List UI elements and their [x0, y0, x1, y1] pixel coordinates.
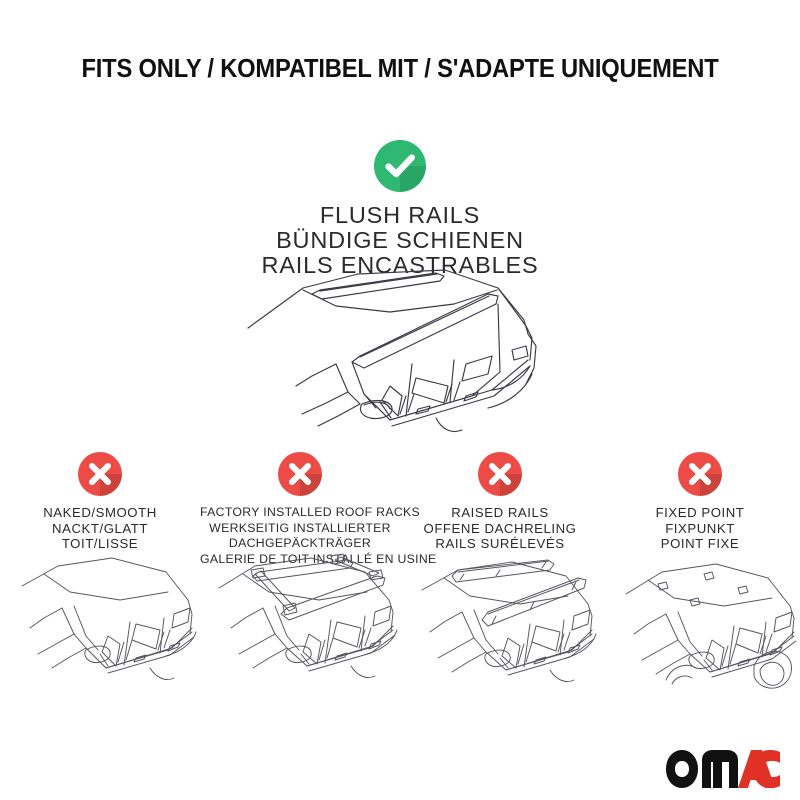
- fixed-point-line-de: FIXPUNKT: [600, 521, 800, 537]
- factory-roof-racks-line-en: FACTORY INSTALLED ROOF RACKS: [200, 505, 400, 521]
- x-circle-icon: [78, 452, 122, 496]
- omac-letter-o: [666, 750, 698, 788]
- incompatible-item-fixed-point: FIXED POINT FIXPUNKT POINT FIXE: [600, 452, 800, 567]
- compatible-section: FLUSH RAILS BÜNDIGE SCHIENEN RAILS ENCAS…: [0, 140, 800, 278]
- fixed-point-label: FIXED POINT FIXPUNKT POINT FIXE: [600, 505, 800, 552]
- raised-rails-line-de: OFFENE DACHRELING: [400, 521, 600, 537]
- suv-fixed-point-illustration: [608, 554, 798, 699]
- suv-factory-crossbars-illustration: [195, 548, 407, 693]
- x-circle-icon: [678, 452, 722, 496]
- flush-rails-label: FLUSH RAILS BÜNDIGE SCHIENEN RAILS ENCAS…: [0, 203, 800, 278]
- raised-rails-line-en: RAISED RAILS: [400, 505, 600, 521]
- page-title: FITS ONLY / KOMPATIBEL MIT / S'ADAPTE UN…: [28, 55, 772, 84]
- flush-rails-line-en: FLUSH RAILS: [0, 203, 800, 228]
- raised-rails-line-fr: RAILS SURÉLEVÉS: [400, 536, 600, 552]
- raised-rails-label: RAISED RAILS OFFENE DACHRELING RAILS SUR…: [400, 505, 600, 552]
- incompatible-item-factory-roof-racks: FACTORY INSTALLED ROOF RACKS WERKSEITIG …: [200, 452, 400, 567]
- x-circle-icon: [278, 452, 322, 496]
- incompatible-item-raised-rails: RAISED RAILS OFFENE DACHRELING RAILS SUR…: [400, 452, 600, 567]
- check-circle-icon: [374, 140, 426, 192]
- naked-smooth-line-fr: TOIT/LISSE: [0, 536, 200, 552]
- naked-smooth-label: NAKED/SMOOTH NACKT/GLATT TOIT/LISSE: [0, 505, 200, 552]
- incompatible-item-naked-smooth: NAKED/SMOOTH NACKT/GLATT TOIT/LISSE: [0, 452, 200, 567]
- x-circle-icon: [478, 452, 522, 496]
- fixed-point-line-fr: POINT FIXE: [600, 536, 800, 552]
- suv-raised-rails-illustration: [400, 552, 600, 697]
- suv-naked-roof-illustration: [0, 552, 200, 697]
- suv-flush-rails-illustration: [240, 268, 560, 443]
- fixed-point-line-en: FIXED POINT: [600, 505, 800, 521]
- omac-letter-m: [702, 750, 738, 788]
- naked-smooth-line-de: NACKT/GLATT: [0, 521, 200, 537]
- flush-rails-line-de: BÜNDIGE SCHIENEN: [0, 228, 800, 253]
- omac-logo: [666, 750, 780, 788]
- incompatible-section: NAKED/SMOOTH NACKT/GLATT TOIT/LISSE: [0, 452, 800, 567]
- factory-roof-racks-line-de1: WERKSEITIG INSTALLIERTER: [200, 521, 400, 537]
- naked-smooth-line-en: NAKED/SMOOTH: [0, 505, 200, 521]
